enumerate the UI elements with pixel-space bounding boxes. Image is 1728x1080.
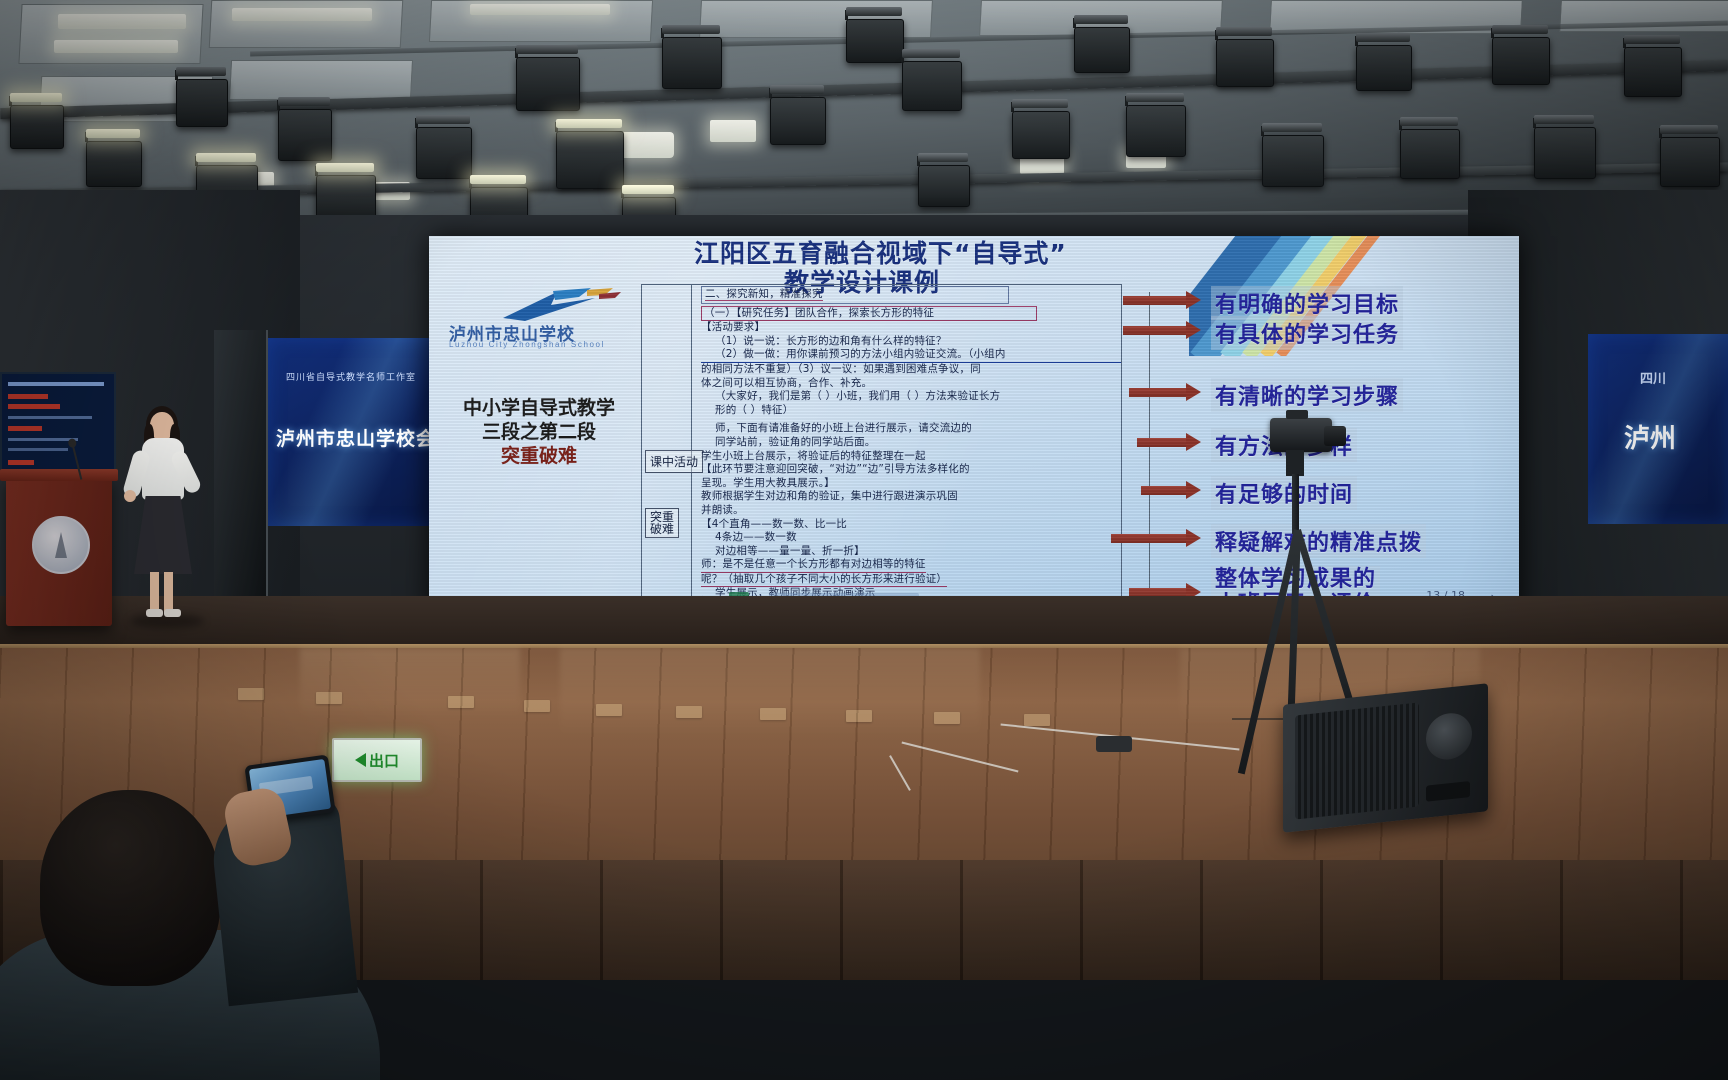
pointer-arrow-6 [1111, 532, 1201, 545]
stage-label-line1: 中小学自导式教学 [441, 396, 637, 420]
speaker-port [1426, 781, 1470, 802]
left-screen-subtitle: 四川省自导式教学名师工作室 [286, 370, 416, 383]
doc-line: （大家好，我们是第（ ）小班，我们用（ ）方法来验证长方 [701, 390, 1121, 404]
pointer-arrow-4 [1137, 436, 1201, 449]
slide-stage-label: 中小学自导式教学 三段之第二段 突重破难 [441, 396, 637, 468]
school-logo: 泸州市忠山学校 Luzhou City Zhongshan School [437, 288, 633, 358]
tripod-column [1292, 474, 1299, 534]
right-projection-screen: 四川 泸州 [1588, 334, 1728, 524]
doc-line: 学生小班上台展示，将验证后的特征整理在一起 [701, 450, 1121, 464]
presenter [120, 406, 210, 626]
key-point-label-3: 有清晰的学习步骤 [1211, 378, 1403, 412]
slide-document-text: 二、探究新知，精准探究 （一）【研究任务】团队合作，探索长方形的特征 【活动要求… [701, 284, 1121, 616]
tag-activity: 课中活动 [645, 450, 703, 473]
right-screen-subtitle: 四川 [1640, 368, 1666, 387]
right-screen-title: 泸州 [1624, 418, 1676, 455]
doc-heading: 二、探究新知，精准探究 [705, 288, 823, 301]
key-point-label-1: 有明确的学习目标 [1211, 286, 1403, 320]
speaker-grill [1295, 702, 1419, 819]
camera-handle [1286, 410, 1308, 419]
doc-line: （2）做一做：用你课前预习的方法小组内验证交流。（小组内 [701, 348, 1121, 363]
pointer-arrow-2 [1123, 324, 1201, 337]
pointer-arrow-3 [1129, 386, 1201, 399]
slide-title-line1: 江阳区五育融合视域下“自导式” [694, 240, 1214, 268]
tripod-head [1286, 450, 1304, 476]
school-logo-mark [495, 288, 625, 322]
lectern-podium [6, 478, 112, 626]
doc-line: （1）说一说：长方形的边和角有什么样的特征？ [701, 335, 1121, 349]
school-emblem [32, 516, 90, 574]
school-logo-en: Luzhou City Zhongshan School [449, 340, 605, 349]
doc-line: 形的（ ）特征） [701, 404, 1121, 418]
doc-line: 呢？（抽取几个孩子不同大小的长方形来进行验证） [701, 573, 947, 588]
audience-hand-right [306, 804, 352, 870]
doc-requirement-title: 【活动要求】 [701, 321, 1121, 335]
divider-vertical-3 [1121, 284, 1122, 606]
speaker-tweeter [1426, 711, 1472, 762]
pointer-arrow-5 [1141, 484, 1201, 497]
exit-sign: 出口 [332, 738, 422, 782]
cable-connector [1096, 736, 1132, 752]
doc-line: 对边相等——量一量、折一折】 [701, 545, 1121, 559]
key-point-label-2: 有具体的学习任务 [1211, 316, 1403, 350]
doc-line: 体之间可以相互协商，合作、补充。 [701, 377, 1121, 391]
camera-body [1270, 418, 1332, 452]
pointer-arrow-1 [1123, 294, 1201, 307]
doc-line: 4条边——数一数 [701, 531, 1121, 545]
doc-line: 的相同方法不重复）（3）议一议：如果遇到困难点争议，同 [701, 363, 1121, 377]
doc-line: 【4个直角——数一数、比一比 [701, 518, 1121, 532]
exit-sign-label: 出口 [369, 750, 399, 771]
tag-breakthrough-line2: 破难 [650, 522, 674, 536]
stage-door [214, 330, 268, 610]
exit-arrow-icon [355, 753, 366, 767]
tag-breakthrough: 突重 破难 [645, 508, 679, 538]
doc-subheading: （一）【研究任务】团队合作，探索长方形的特征 [704, 307, 934, 319]
left-screen-title: 泸州市忠山学校会场 [276, 424, 440, 451]
podium-top [0, 469, 118, 481]
doc-line: 呈现。学生用大教具展示。】 [701, 477, 1121, 491]
left-projection-screen: 四川省自导式教学名师工作室 泸州市忠山学校会场 [268, 338, 440, 526]
side-monitor [0, 372, 116, 480]
divider-vertical-1 [641, 284, 642, 606]
stage-label-line2: 三段之第二段 [441, 420, 637, 444]
camera-lens-icon [1324, 426, 1346, 446]
doc-line: 师：是不是任意一个长方形都有对边相等的特征 [701, 558, 926, 573]
doc-line: 【此环节要注意迎回突破，“对边”“边”引导方法多样化的 [701, 463, 1121, 477]
stage-loudspeaker [1283, 683, 1488, 833]
doc-line: 并朗读。 [701, 504, 1121, 518]
doc-line: 教师根据学生对边和角的验证，集中进行跟进演示巩固 [701, 490, 1121, 504]
audience-head [40, 790, 220, 986]
divider-vertical-2 [691, 284, 692, 606]
doc-line: 师，下面有请准备好的小班上台进行展示，请交流边的 [701, 422, 1121, 436]
stage-label-line3: 突重破难 [441, 444, 637, 468]
scene-root: 四川省自导式教学名师工作室 泸州市忠山学校会场 江阳区五育融合视 [0, 0, 1728, 1080]
doc-line: 同学站前，验证角的同学站后面。 [701, 436, 1121, 450]
